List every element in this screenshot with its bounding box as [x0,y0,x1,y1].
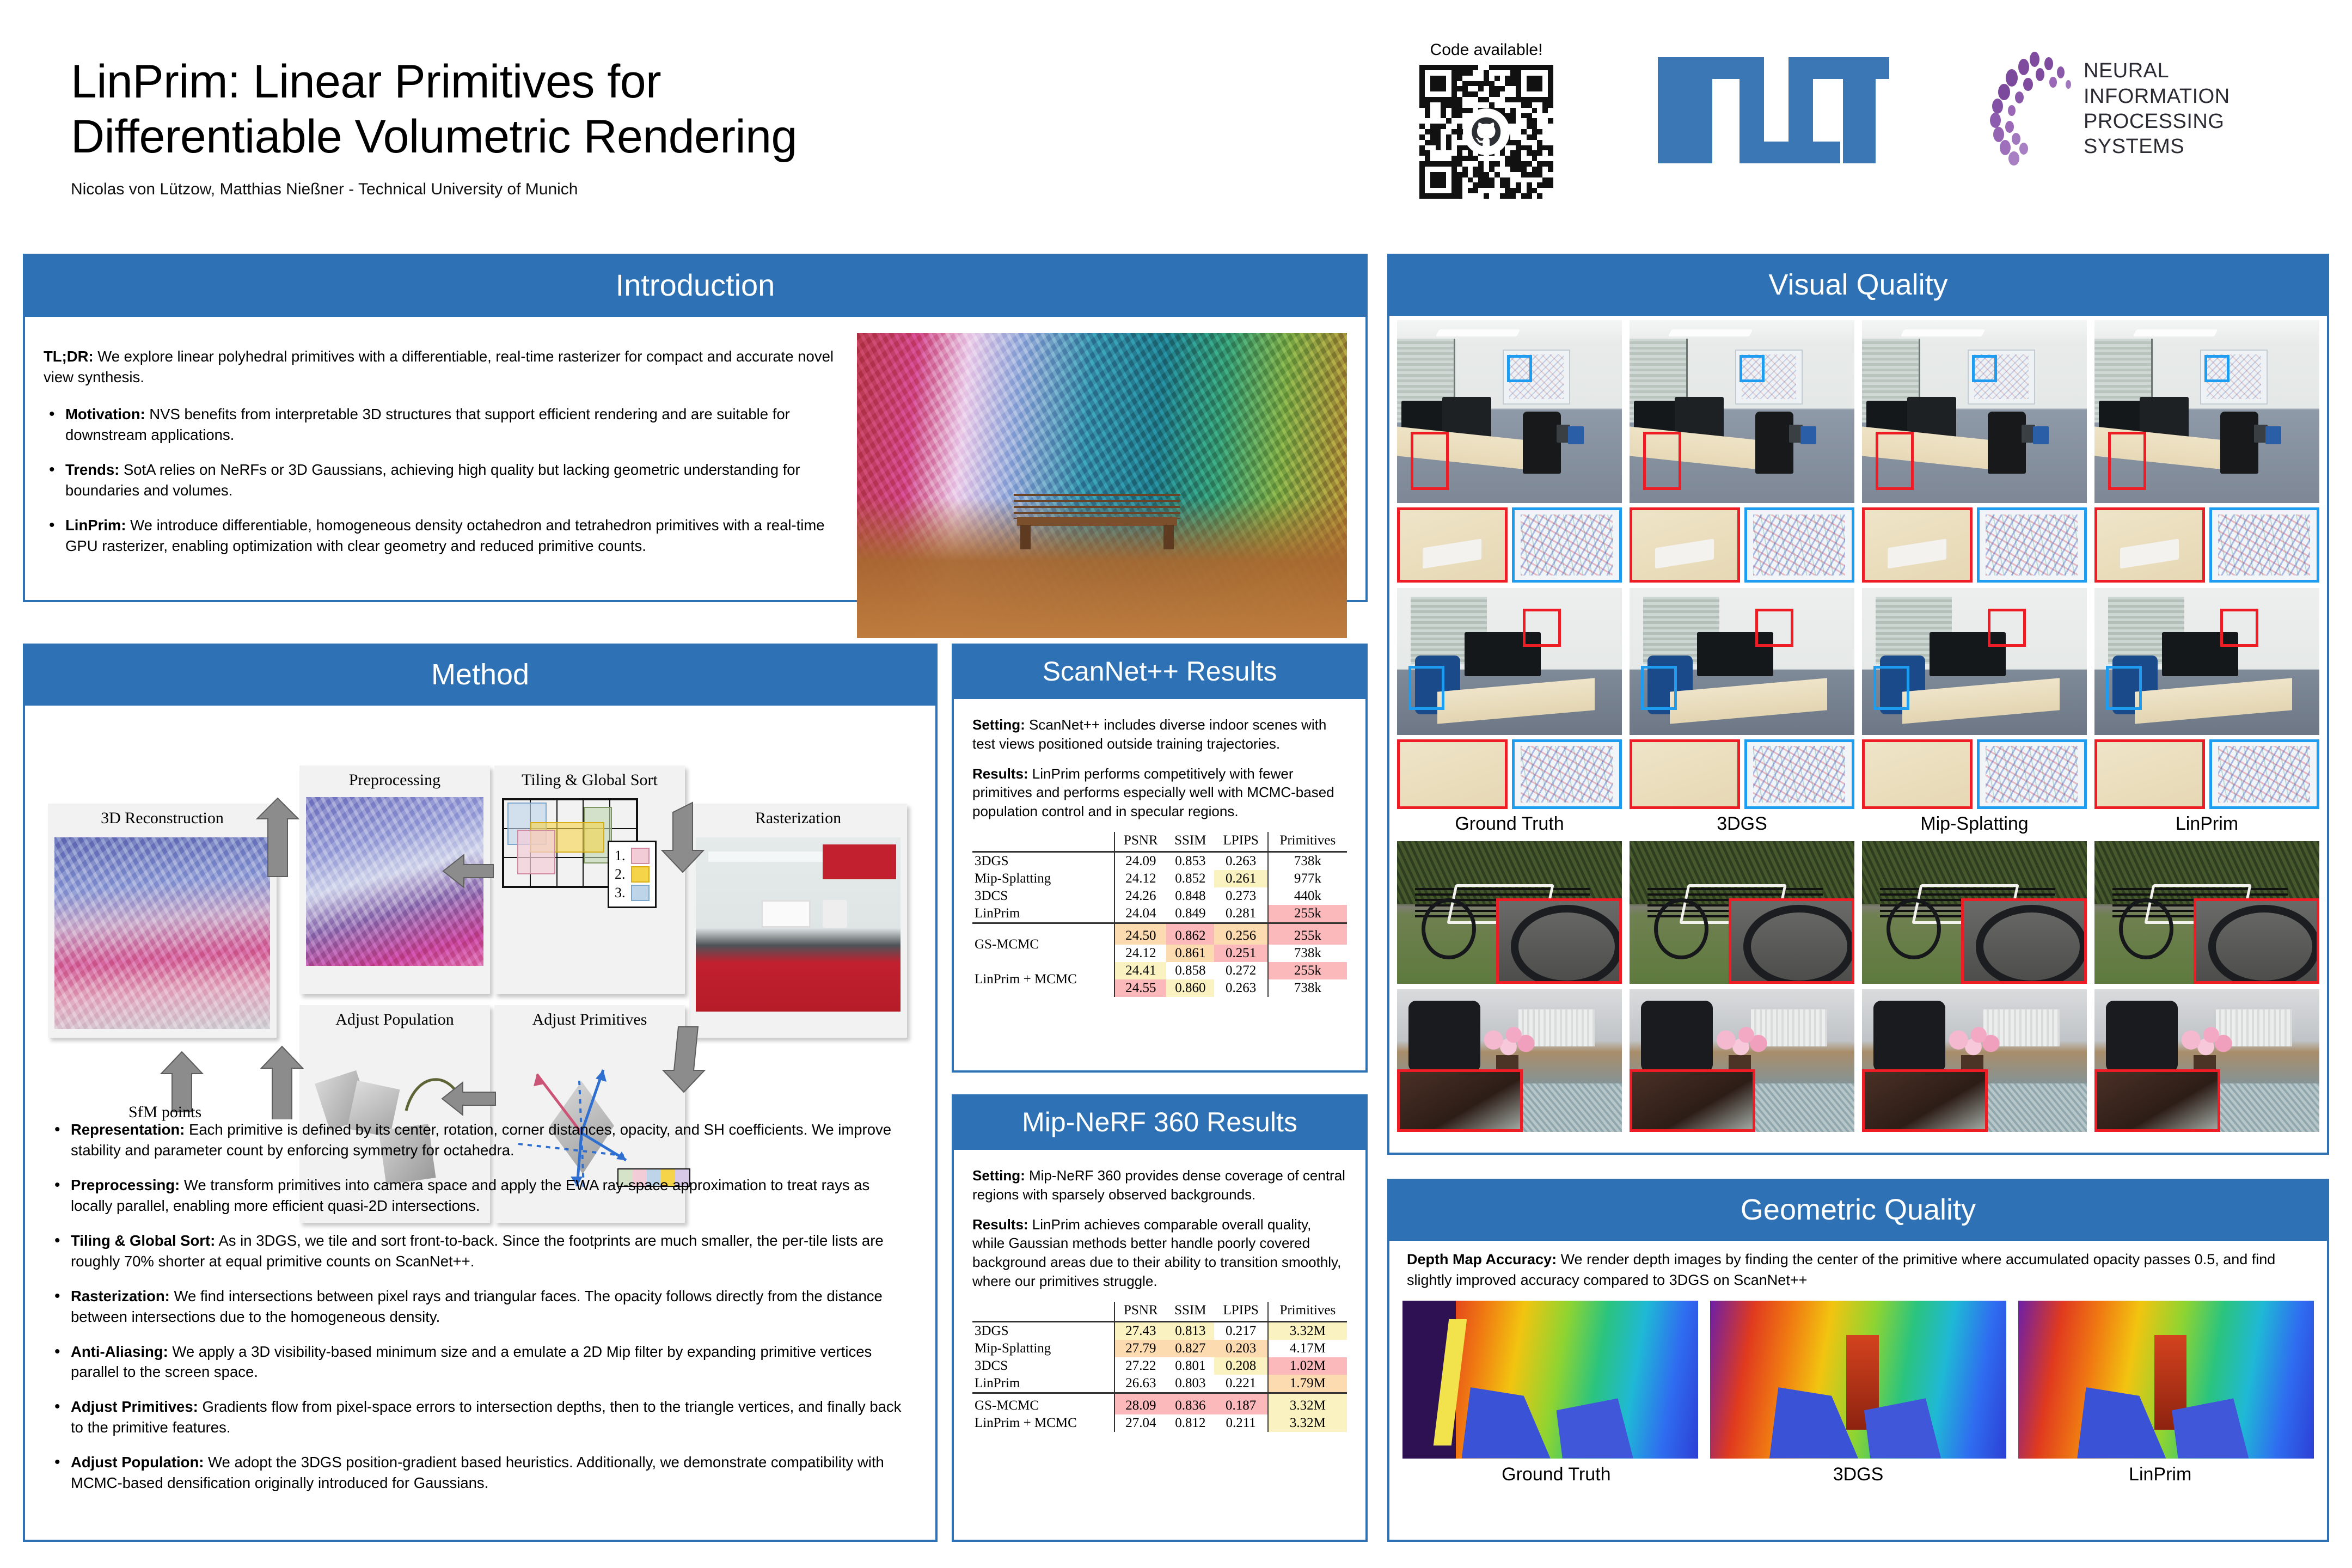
page-title-line2: Differentiable Volumetric Rendering [71,109,1323,164]
vq-label-ground-truth: Ground Truth [1397,813,1622,835]
cell-ssim: 0.860 [1166,979,1214,997]
geo-label-linprim: LinPrim [2014,1464,2306,1485]
vq-row-bicycle [1397,841,2319,984]
col-ssim: SSIM [1166,832,1214,852]
crop-box-blue-icon [1972,355,1996,382]
visual-quality-column-labels: Ground Truth 3DGS Mip-Splatting LinPrim [1389,809,2327,837]
cell-psnr: 24.50 [1114,923,1166,945]
crop-box-red-icon [1523,609,1561,647]
crop-box-red-icon [1876,432,1914,491]
cell-psnr: 24.09 [1114,852,1166,871]
cell-method: LinPrim [972,905,1114,923]
cell-prim: 738k [1268,979,1347,997]
cell-prim: 255k [1268,962,1347,979]
mipnerf-setting: Setting: Mip-NeRF 360 provides dense cov… [972,1166,1347,1204]
depth-label: Depth Map Accuracy: [1407,1251,1557,1267]
neurips-line1: NEURAL INFORMATION [2084,58,2311,109]
section-scannet-results: ScanNet++ Results Setting: ScanNet++ inc… [952,644,1368,1073]
crop-box-blue-icon [1641,666,1677,710]
cell-method: 3DGS [972,1321,1114,1340]
crop-box-red-icon [1755,609,1793,647]
cell-psnr: 24.12 [1114,870,1166,887]
cell-lpips: 0.263 [1214,852,1267,871]
table-row: Mip-Splatting 24.12 0.852 0.261 977k [972,870,1347,887]
vq-crop-pair-mip-splatting [1862,507,2087,583]
cell-prim: 440k [1268,887,1347,905]
introduction-bullet-trends: Trends: SotA relies on NeRFs or 3D Gauss… [44,460,842,501]
cell-lpips: 0.261 [1214,870,1267,887]
vq-row-desk-crops [1397,739,2319,809]
table-row: GS-MCMC 28.09 0.836 0.187 3.32M [972,1393,1347,1414]
cell-ssim: 0.853 [1166,852,1214,871]
depth-image-ground-truth [1402,1301,1698,1459]
vq-image-linprim-bonsai [2094,989,2319,1132]
qr-block[interactable]: Code available! [1407,41,1565,199]
cell-prim: 1.79M [1268,1375,1347,1393]
vq-label-3dgs: 3DGS [1630,813,1854,835]
tldr-text: We explore linear polyhedral primitives … [44,348,834,385]
method-bullet-preprocessing: Preprocessing: We transform primitives i… [49,1175,911,1216]
method-body: 3D Reconstruction Preprocessing Tiling &… [25,706,935,1521]
cell-ssim: 0.861 [1166,945,1214,962]
qr-code-icon[interactable] [1419,65,1553,199]
table-row: LinPrim 26.63 0.803 0.221 1.79M [972,1375,1347,1393]
crop-box-red-icon [1411,432,1449,491]
cell-psnr: 24.26 [1114,887,1166,905]
col-lpips: LPIPS [1214,1302,1267,1322]
setting-label: Setting: [972,1167,1025,1184]
method-bullet-tiling-global-sort: Tiling & Global Sort: As in 3DGS, we til… [49,1230,911,1272]
geometric-quality-body: Depth Map Accuracy: We render depth imag… [1389,1241,2327,1491]
cell-method: GS-MCMC [972,1393,1114,1414]
method-node-rasterization: Rasterization [689,804,907,1038]
col-primitives: Primitives [1268,832,1347,852]
cell-lpips: 0.263 [1214,979,1267,997]
method-bullet-anti-aliasing: Anti-Aliasing: We apply a 3D visibility-… [49,1342,911,1383]
vq-crop-pair-ground-truth [1397,507,1622,583]
method-node-3d-reconstruction: 3D Reconstruction [48,804,277,1038]
cell-prim: 255k [1268,905,1347,923]
mipnerf-title: Mip-NeRF 360 Results [954,1097,1365,1150]
crop-box-red-icon [2220,609,2258,647]
cell-ssim: 0.803 [1166,1375,1214,1393]
bullet-label: Adjust Population: [71,1454,204,1471]
vq-row-office [1397,320,2319,503]
visual-quality-title: Visual Quality [1389,256,2327,316]
cell-ssim: 0.862 [1166,923,1214,945]
cell-psnr: 24.55 [1114,979,1166,997]
method-title: Method [25,646,935,706]
table-header-row: PSNR SSIM LPIPS Primitives [972,1302,1347,1322]
legend-swatch-pink [631,848,650,864]
bullet-text: SotA relies on NeRFs or 3D Gaussians, ac… [65,461,800,499]
cell-lpips: 0.187 [1214,1393,1267,1414]
bullet-text: We introduce differentiable, homogeneous… [65,517,825,554]
section-geometric-quality: Geometric Quality Depth Map Accuracy: We… [1387,1179,2329,1542]
section-introduction: Introduction TL;DR: We explore linear po… [23,254,1368,602]
cell-method: LinPrim + MCMC [972,962,1114,997]
table-row: 3DGS 27.43 0.813 0.217 3.32M [972,1321,1347,1340]
cell-psnr: 27.79 [1114,1340,1166,1357]
crop-box-blue-icon [2106,666,2142,710]
cell-method: GS-MCMC [972,923,1114,963]
github-octocat-icon [1463,108,1510,155]
method-pipeline-figure: 3D Reconstruction Preprocessing Tiling &… [44,722,917,1119]
results-label: Results: [972,1216,1028,1233]
tile-footprint-pink [517,830,555,874]
legend-swatch-blue [631,885,650,901]
table-row: GS-MCMC 24.50 0.862 0.256 255k [972,923,1347,945]
cell-lpips: 0.281 [1214,905,1267,923]
vq-image-3dgs-office [1630,320,1854,503]
introduction-title: Introduction [25,256,1365,317]
vq-image-mip-splatting-bonsai [1862,989,2087,1132]
vq-image-ground-truth-desk [1397,588,1622,735]
crop-box-red-icon [1643,432,1681,491]
bullet-label: Tiling & Global Sort: [71,1232,215,1249]
introduction-bullet-linprim: LinPrim: We introduce differentiable, ho… [44,515,842,556]
crop-box-blue-icon [2204,355,2229,382]
table-row: Mip-Splatting 27.79 0.827 0.203 4.17M [972,1340,1347,1357]
cell-method: 3DGS [972,852,1114,871]
crop-box-blue-icon [1739,355,1764,382]
bullet-text: We apply a 3D visibility-based minimum s… [71,1343,872,1381]
cell-method: Mip-Splatting [972,1340,1114,1357]
method-node-label: Rasterization [689,804,907,828]
cell-prim: 3.32M [1268,1321,1347,1340]
cell-lpips: 0.272 [1214,962,1267,979]
col-method [972,832,1114,852]
vq-image-ground-truth-bonsai [1397,989,1622,1132]
bullet-label: Anti-Aliasing: [71,1343,168,1360]
neurips-line2: PROCESSING SYSTEMS [2084,109,2311,160]
cell-prim: 977k [1268,870,1347,887]
method-bullet-adjust-population: Adjust Population: We adopt the 3DGS pos… [49,1452,911,1493]
title-block: LinPrim: Linear Primitives for Different… [71,54,1323,199]
results-text: LinPrim achieves comparable overall qual… [972,1216,1341,1289]
legend-rank: 2. [615,866,626,883]
scannet-body: Setting: ScanNet++ includes diverse indo… [954,699,1365,1010]
visual-quality-grid [1389,316,2327,809]
depth-image-3dgs [1710,1301,2006,1459]
depth-image-linprim [2018,1301,2314,1459]
section-mipnerf360-results: Mip-NeRF 360 Results Setting: Mip-NeRF 3… [952,1094,1368,1542]
cell-ssim: 0.813 [1166,1321,1214,1340]
vq-crop-pair-linprim [2094,507,2319,583]
legend-row-1: 1. [615,848,650,864]
cell-psnr: 27.43 [1114,1321,1166,1340]
introduction-body: TL;DR: We explore linear polyhedral prim… [25,317,1365,651]
table-row: LinPrim + MCMC 27.04 0.812 0.211 3.32M [972,1414,1347,1432]
geo-label-ground-truth: Ground Truth [1410,1464,1702,1485]
cell-psnr: 24.41 [1114,962,1166,979]
cell-method: 3DCS [972,887,1114,905]
vq-image-ground-truth-office [1397,320,1622,503]
vq-row-office-crops [1397,507,2319,583]
cell-ssim: 0.852 [1166,870,1214,887]
bullet-label: Trends: [65,461,119,478]
vq-image-linprim-desk [2094,588,2319,735]
cell-lpips: 0.217 [1214,1321,1267,1340]
vq-crop-pair-3dgs [1630,507,1854,583]
setting-label: Setting: [972,716,1025,733]
mipnerf-results: Results: LinPrim achieves comparable ove… [972,1215,1347,1291]
vq-label-mip-splatting: Mip-Splatting [1862,813,2087,835]
sfm-points-label: SfM points [128,1103,201,1122]
cell-method: 3DCS [972,1357,1114,1375]
bullet-text: We find intersections between pixel rays… [71,1288,883,1325]
cell-psnr: 27.04 [1114,1414,1166,1432]
vq-image-3dgs-bicycle [1630,841,1854,984]
table-row: 3DCS 27.22 0.801 0.208 1.02M [972,1357,1347,1375]
neurips-logo: NEURAL INFORMATION PROCESSING SYSTEMS [1974,46,2311,171]
neurips-swirl-icon [1974,51,2077,168]
vq-crop2-pair-ground-truth [1397,739,1622,809]
col-method [972,1302,1114,1322]
vq-crop2-pair-3dgs [1630,739,1854,809]
rasterization-thumbnail [696,837,901,1012]
table-header-row: PSNR SSIM LPIPS Primitives [972,832,1347,852]
scannet-title: ScanNet++ Results [954,646,1365,699]
section-method: Method 3D Reconstruction Preprocessing T… [23,644,938,1542]
cell-psnr: 27.22 [1114,1357,1166,1375]
tldr-paragraph: TL;DR: We explore linear polyhedral prim… [44,346,842,388]
method-bullet-list: Representation: Each primitive is define… [44,1119,917,1493]
col-lpips: LPIPS [1214,832,1267,852]
setting-text: Mip-NeRF 360 provides dense coverage of … [972,1167,1345,1203]
cell-ssim: 0.801 [1166,1357,1214,1375]
vq-image-mip-splatting-desk [1862,588,2087,735]
cell-prim: 3.32M [1268,1414,1347,1432]
cell-prim: 1.02M [1268,1357,1347,1375]
bullet-label: Preprocessing: [71,1177,180,1193]
bullet-text: We transform primitives into camera spac… [71,1177,869,1214]
cell-lpips: 0.251 [1214,945,1267,962]
page-title-line1: LinPrim: Linear Primitives for [71,54,1323,109]
bullet-label: Adjust Primitives: [71,1398,198,1415]
cell-prim: 738k [1268,852,1347,871]
vq-image-linprim-office [2094,320,2319,503]
method-node-label: Tiling & Global Sort [494,765,685,789]
poster-header: LinPrim: Linear Primitives for Different… [0,0,2352,240]
table-row: LinPrim 24.04 0.849 0.281 255k [972,905,1347,923]
cell-prim: 738k [1268,945,1347,962]
tum-logo [1658,57,1897,163]
cell-method: Mip-Splatting [972,870,1114,887]
crop-box-blue-icon [1873,666,1909,710]
crop-box-red-icon [1988,609,2026,647]
bullet-label: Motivation: [65,406,145,422]
introduction-text: TL;DR: We explore linear polyhedral prim… [44,333,842,638]
cell-prim: 255k [1268,923,1347,945]
cell-lpips: 0.211 [1214,1414,1267,1432]
mipnerf-body: Setting: Mip-NeRF 360 provides dense cov… [954,1150,1365,1445]
geometric-quality-title: Geometric Quality [1389,1181,2327,1241]
vq-image-3dgs-bonsai [1630,989,1854,1132]
bullet-label: Rasterization: [71,1288,170,1304]
cell-method: LinPrim + MCMC [972,1414,1114,1432]
col-psnr: PSNR [1114,1302,1166,1322]
cell-psnr: 24.12 [1114,945,1166,962]
vq-image-linprim-bicycle [2094,841,2319,984]
authors-line: Nicolas von Lützow, Matthias Nießner - T… [71,180,1323,199]
geo-label-3dgs: 3DGS [1712,1464,2005,1485]
scannet-results-table: PSNR SSIM LPIPS Primitives 3DGS 24.09 0.… [972,832,1347,997]
introduction-bullet-motivation: Motivation: NVS benefits from interpreta… [44,404,842,445]
reconstruction-thumbnail [54,837,270,1029]
table-row: 3DCS 24.26 0.848 0.273 440k [972,887,1347,905]
cell-method: LinPrim [972,1375,1114,1393]
vq-crop2-pair-linprim [2094,739,2319,809]
preprocessing-thumbnail [306,797,483,966]
cell-lpips: 0.221 [1214,1375,1267,1393]
legend-row-3: 3. [615,885,650,901]
cell-ssim: 0.849 [1166,905,1214,923]
teaser-image-park-bench [857,333,1347,638]
legend-rank: 1. [615,848,626,864]
scannet-results: Results: LinPrim performs competitively … [972,764,1347,821]
vq-crop2-pair-mip-splatting [1862,739,2087,809]
col-psnr: PSNR [1114,832,1166,852]
crop-box-blue-icon [1408,666,1444,710]
qr-caption: Code available! [1407,41,1565,59]
legend-rank: 3. [615,885,626,901]
method-node-label: 3D Reconstruction [48,804,277,828]
vq-image-ground-truth-bicycle [1397,841,1622,984]
cell-prim: 4.17M [1268,1340,1347,1357]
cell-lpips: 0.256 [1214,923,1267,945]
poster-root: LinPrim: Linear Primitives for Different… [0,0,2352,1568]
visual-quality-grid-2 [1389,837,2327,1132]
crop-box-red-icon [2108,432,2146,491]
cell-lpips: 0.203 [1214,1340,1267,1357]
vq-image-mip-splatting-bicycle [1862,841,2087,984]
legend-row-2: 2. [615,866,650,883]
depth-map-accuracy-text: Depth Map Accuracy: We render depth imag… [1402,1241,2314,1301]
method-node-preprocessing: Preprocessing [299,765,490,994]
cell-psnr: 28.09 [1114,1393,1166,1414]
crop-box-blue-icon [1507,355,1532,382]
vq-row-office-desk [1397,588,2319,735]
introduction-bullet-list: Motivation: NVS benefits from interpreta… [44,404,842,556]
method-bullet-representation: Representation: Each primitive is define… [49,1119,911,1161]
vq-image-3dgs-desk [1630,588,1854,735]
vq-label-linprim: LinPrim [2094,813,2319,835]
method-bullet-adjust-primitives: Adjust Primitives: Gradients flow from p… [49,1396,911,1438]
cell-ssim: 0.848 [1166,887,1214,905]
cell-prim: 3.32M [1268,1393,1347,1414]
depth-image-row [1402,1301,2314,1459]
col-primitives: Primitives [1268,1302,1347,1322]
sort-order-legend: 1. 2. 3. [608,841,657,908]
vq-row-bonsai [1397,989,2319,1132]
cell-lpips: 0.273 [1214,887,1267,905]
table-row: LinPrim + MCMC 24.41 0.858 0.272 255k [972,962,1347,979]
cell-ssim: 0.858 [1166,962,1214,979]
legend-swatch-yellow [631,866,650,883]
cell-ssim: 0.836 [1166,1393,1214,1414]
cell-psnr: 26.63 [1114,1375,1166,1393]
results-label: Results: [972,765,1028,782]
cell-ssim: 0.827 [1166,1340,1214,1357]
setting-text: ScanNet++ includes diverse indoor scenes… [972,716,1326,752]
method-bullet-rasterization: Rasterization: We find intersections bet… [49,1286,911,1327]
geometric-quality-column-labels: Ground Truth 3DGS LinPrim [1402,1459,2314,1485]
section-visual-quality: Visual Quality [1387,254,2329,1155]
mipnerf-results-table: PSNR SSIM LPIPS Primitives 3DGS 27.43 0.… [972,1302,1347,1432]
cell-psnr: 24.04 [1114,905,1166,923]
bullet-label: Representation: [71,1121,185,1138]
cell-lpips: 0.208 [1214,1357,1267,1375]
method-node-tiling-global-sort: Tiling & Global Sort 1. [494,765,685,994]
cell-ssim: 0.812 [1166,1414,1214,1432]
vq-image-mip-splatting-office [1862,320,2087,503]
method-node-label: Preprocessing [299,765,490,789]
scannet-setting: Setting: ScanNet++ includes diverse indo… [972,715,1347,754]
col-ssim: SSIM [1166,1302,1214,1322]
table-row: 3DGS 24.09 0.853 0.263 738k [972,852,1347,871]
tldr-label: TL;DR: [44,348,94,365]
bullet-text: NVS benefits from interpretable 3D struc… [65,406,790,443]
bullet-label: LinPrim: [65,517,126,534]
bullet-text: Each primitive is defined by its center,… [71,1121,891,1159]
